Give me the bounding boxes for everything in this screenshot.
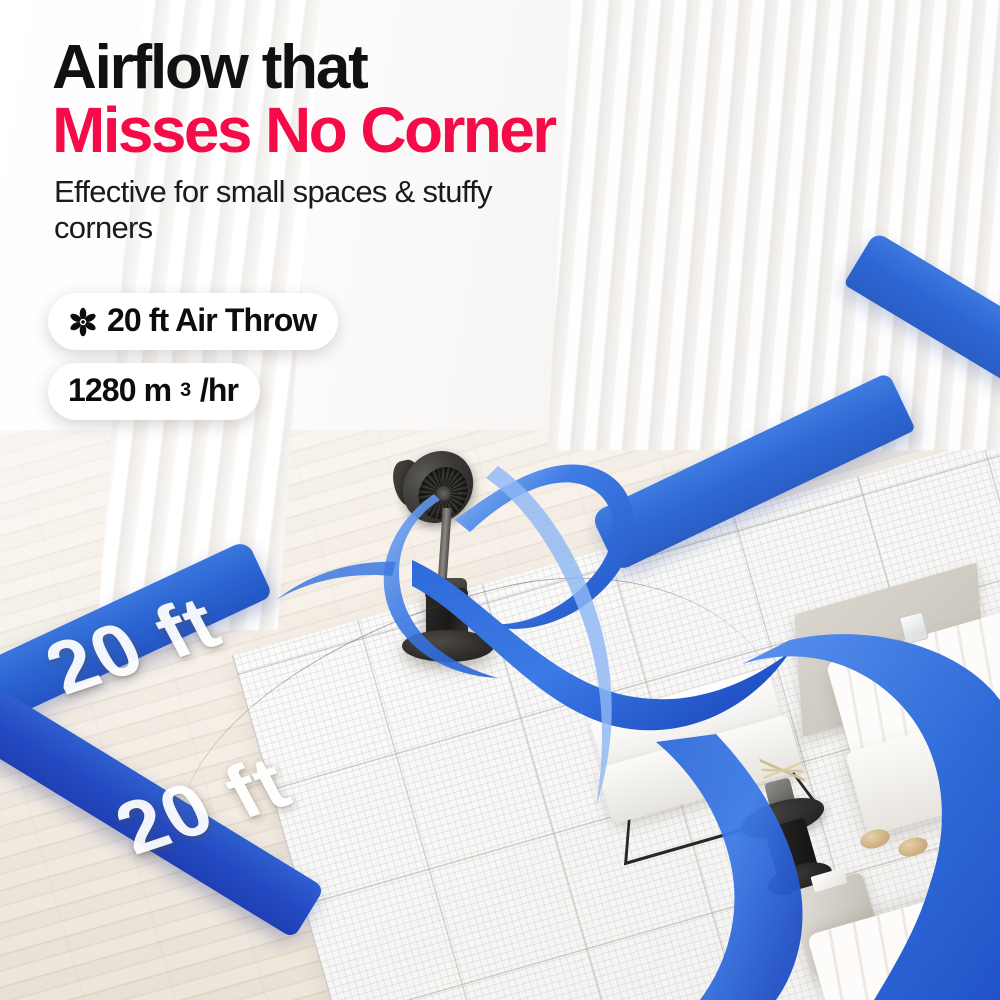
air-circulator-fan xyxy=(392,452,512,662)
headline-block: Airflow that Misses No Corner Effective … xyxy=(52,38,752,246)
badge-air-throw-label: 20 ft Air Throw xyxy=(107,302,316,339)
flower-fan-icon xyxy=(68,307,98,337)
spec-badges: 20 ft Air Throw 1280 m3/hr xyxy=(48,293,338,433)
subheadline: Effective for small spaces & stuffy corn… xyxy=(54,174,574,246)
badge-row-airflow-rate: 1280 m3/hr xyxy=(48,363,338,433)
headline-line-1: Airflow that xyxy=(52,33,367,102)
page-title: Airflow that Misses No Corner xyxy=(52,38,752,161)
badge-row-air-throw: 20 ft Air Throw xyxy=(48,293,338,363)
fan-base-disc xyxy=(402,630,494,662)
badge-airflow-rate-suffix: /hr xyxy=(200,372,238,409)
promo-banner: 20 ft 20 ft xyxy=(0,0,1000,1000)
fan-hub xyxy=(436,486,451,501)
badge-airflow-rate: 1280 m3/hr xyxy=(48,363,260,420)
badge-airflow-rate-prefix: 1280 m xyxy=(68,372,171,409)
headline-line-2: Misses No Corner xyxy=(52,99,752,162)
badge-air-throw: 20 ft Air Throw xyxy=(48,293,338,350)
badge-airflow-rate-exponent: 3 xyxy=(180,379,191,402)
